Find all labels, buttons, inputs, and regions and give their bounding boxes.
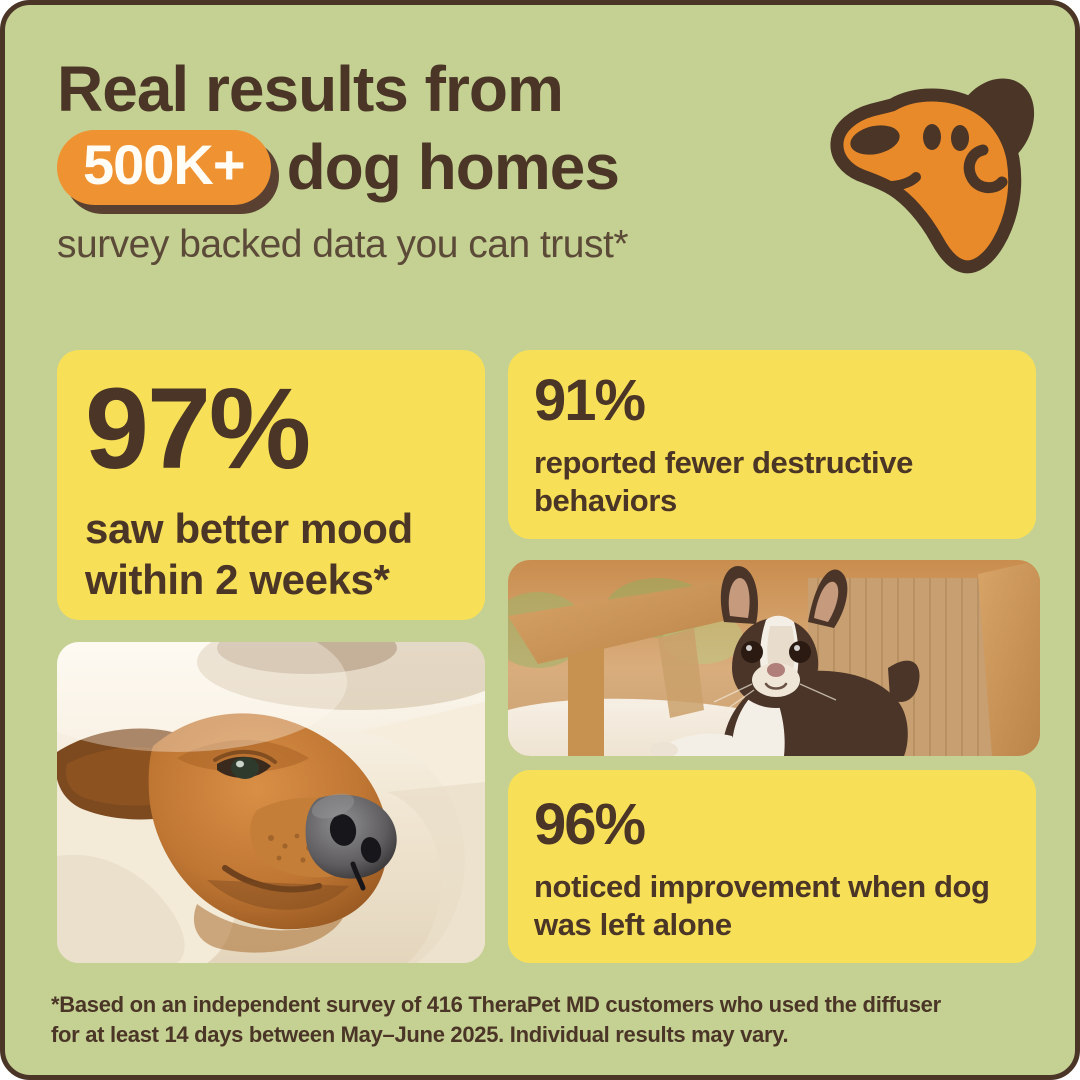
infographic-canvas: Real results from 500K+ dog homes survey… (0, 0, 1080, 1080)
count-badge-500k: 500K+ (57, 130, 271, 205)
stat-card-mood: 97% saw better mood within 2 weeks* (57, 350, 485, 620)
subtitle: survey backed data you can trust* (57, 223, 817, 267)
header: Real results from 500K+ dog homes survey… (57, 57, 817, 267)
photo-dachshund (57, 642, 485, 963)
stat-value-mood: 97% (85, 372, 457, 487)
page-title-line-1: Real results from (57, 57, 817, 122)
stat-description-destructive: reported fewer destructive behaviors (534, 444, 1010, 520)
photo-chihuahua (508, 560, 1040, 756)
stat-description-alone: noticed improvement when dog was left al… (534, 868, 1010, 944)
stat-value-destructive: 91% (534, 372, 1010, 430)
stat-card-destructive: 91% reported fewer destructive behaviors (508, 350, 1036, 539)
footnote-line-1: *Based on an independent survey of 416 T… (51, 990, 1041, 1020)
footnote: *Based on an independent survey of 416 T… (51, 990, 1041, 1051)
footnote-line-2: for at least 14 days between May–June 20… (51, 1020, 1041, 1050)
stat-card-alone: 96% noticed improvement when dog was lef… (508, 770, 1036, 963)
page-title-line-2: 500K+ dog homes (57, 130, 817, 205)
stat-value-alone: 96% (534, 796, 1010, 854)
dog-head-logo (820, 67, 1045, 282)
stat-description-mood: saw better mood within 2 weeks* (85, 503, 457, 605)
page-title-line-2-text: dog homes (287, 135, 619, 200)
